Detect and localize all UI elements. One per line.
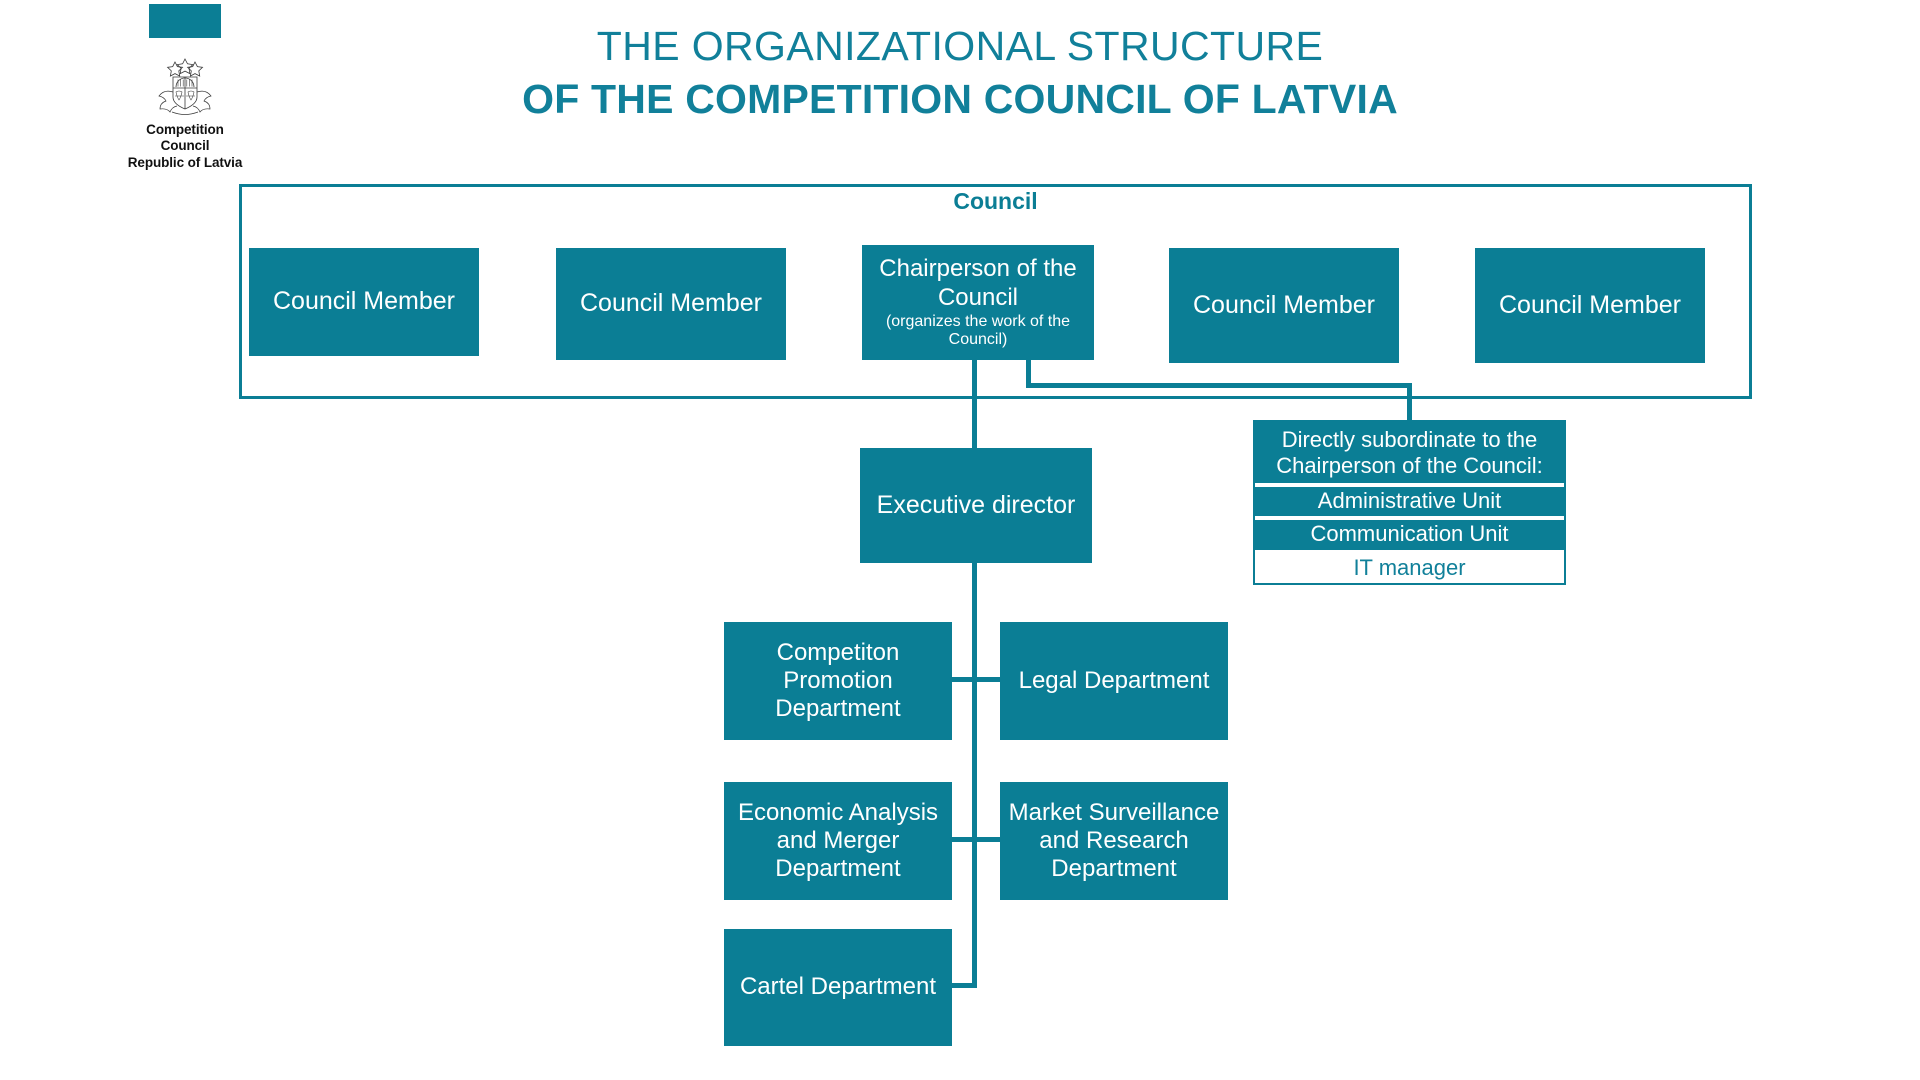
chairperson-of-the-council[interactable]: Chairperson of the Council (organizes th… xyxy=(862,245,1094,360)
department-cartel[interactable]: Cartel Department xyxy=(724,929,952,1046)
department-legal[interactable]: Legal Department xyxy=(1000,622,1228,740)
department-economic-analysis-merger-label: Economic Analysis and Merger Department xyxy=(724,799,952,884)
council-member-3-label: Council Member xyxy=(1193,291,1375,321)
connector-row1-right xyxy=(972,677,1001,682)
latvia-coat-of-arms-icon xyxy=(148,52,222,118)
council-member-2-label: Council Member xyxy=(580,289,762,319)
council-member-4-label: Council Member xyxy=(1499,291,1681,321)
department-market-surveillance-research-label: Market Surveillance and Research Departm… xyxy=(1000,799,1228,884)
executive-director-label: Executive director xyxy=(877,491,1076,521)
subordinate-unit-it-manager[interactable]: IT manager xyxy=(1255,550,1564,583)
logo-caption-line1: Competition Council xyxy=(120,122,250,155)
directly-subordinate-group: Directly subordinate to the Chairperson … xyxy=(1253,420,1566,585)
department-market-surveillance-research[interactable]: Market Surveillance and Research Departm… xyxy=(1000,782,1228,900)
council-member-1-label: Council Member xyxy=(273,287,455,317)
page-title-line1: THE ORGANIZATIONAL STRUCTURE xyxy=(430,22,1490,70)
council-member-3[interactable]: Council Member xyxy=(1169,248,1399,363)
logo-caption: Competition Council Republic of Latvia xyxy=(120,122,250,171)
department-competition-promotion[interactable]: Competiton Promotion Department xyxy=(724,622,952,740)
logo-accent-bar xyxy=(149,4,221,38)
department-legal-label: Legal Department xyxy=(1019,667,1210,695)
department-competition-promotion-label: Competiton Promotion Department xyxy=(724,639,952,724)
subordinate-unit-administrative[interactable]: Administrative Unit xyxy=(1255,483,1564,516)
connector-row2-right xyxy=(972,837,1001,842)
chairperson-subtitle: (organizes the work of the Council) xyxy=(867,313,1089,350)
chairperson-title: Chairperson of the Council xyxy=(867,255,1089,312)
organization-logo: Competition Council Republic of Latvia xyxy=(120,0,250,171)
connector-exec-spine xyxy=(972,563,977,988)
council-group-label: Council xyxy=(239,188,1752,215)
council-member-2[interactable]: Council Member xyxy=(556,248,786,360)
council-member-1[interactable]: Council Member xyxy=(249,248,479,356)
page-title-line2: OF THE COMPETITION COUNCIL OF LATVIA xyxy=(430,75,1490,124)
executive-director[interactable]: Executive director xyxy=(860,448,1092,563)
directly-subordinate-heading: Directly subordinate to the Chairperson … xyxy=(1255,422,1564,483)
page-title: THE ORGANIZATIONAL STRUCTURE OF THE COMP… xyxy=(430,22,1490,125)
subordinate-unit-communication[interactable]: Communication Unit xyxy=(1255,516,1564,549)
logo-caption-line2: Republic of Latvia xyxy=(120,155,250,171)
connector-cartel-elbow xyxy=(951,983,977,988)
department-economic-analysis-merger[interactable]: Economic Analysis and Merger Department xyxy=(724,782,952,900)
council-member-4[interactable]: Council Member xyxy=(1475,248,1705,363)
department-cartel-label: Cartel Department xyxy=(740,973,936,1001)
